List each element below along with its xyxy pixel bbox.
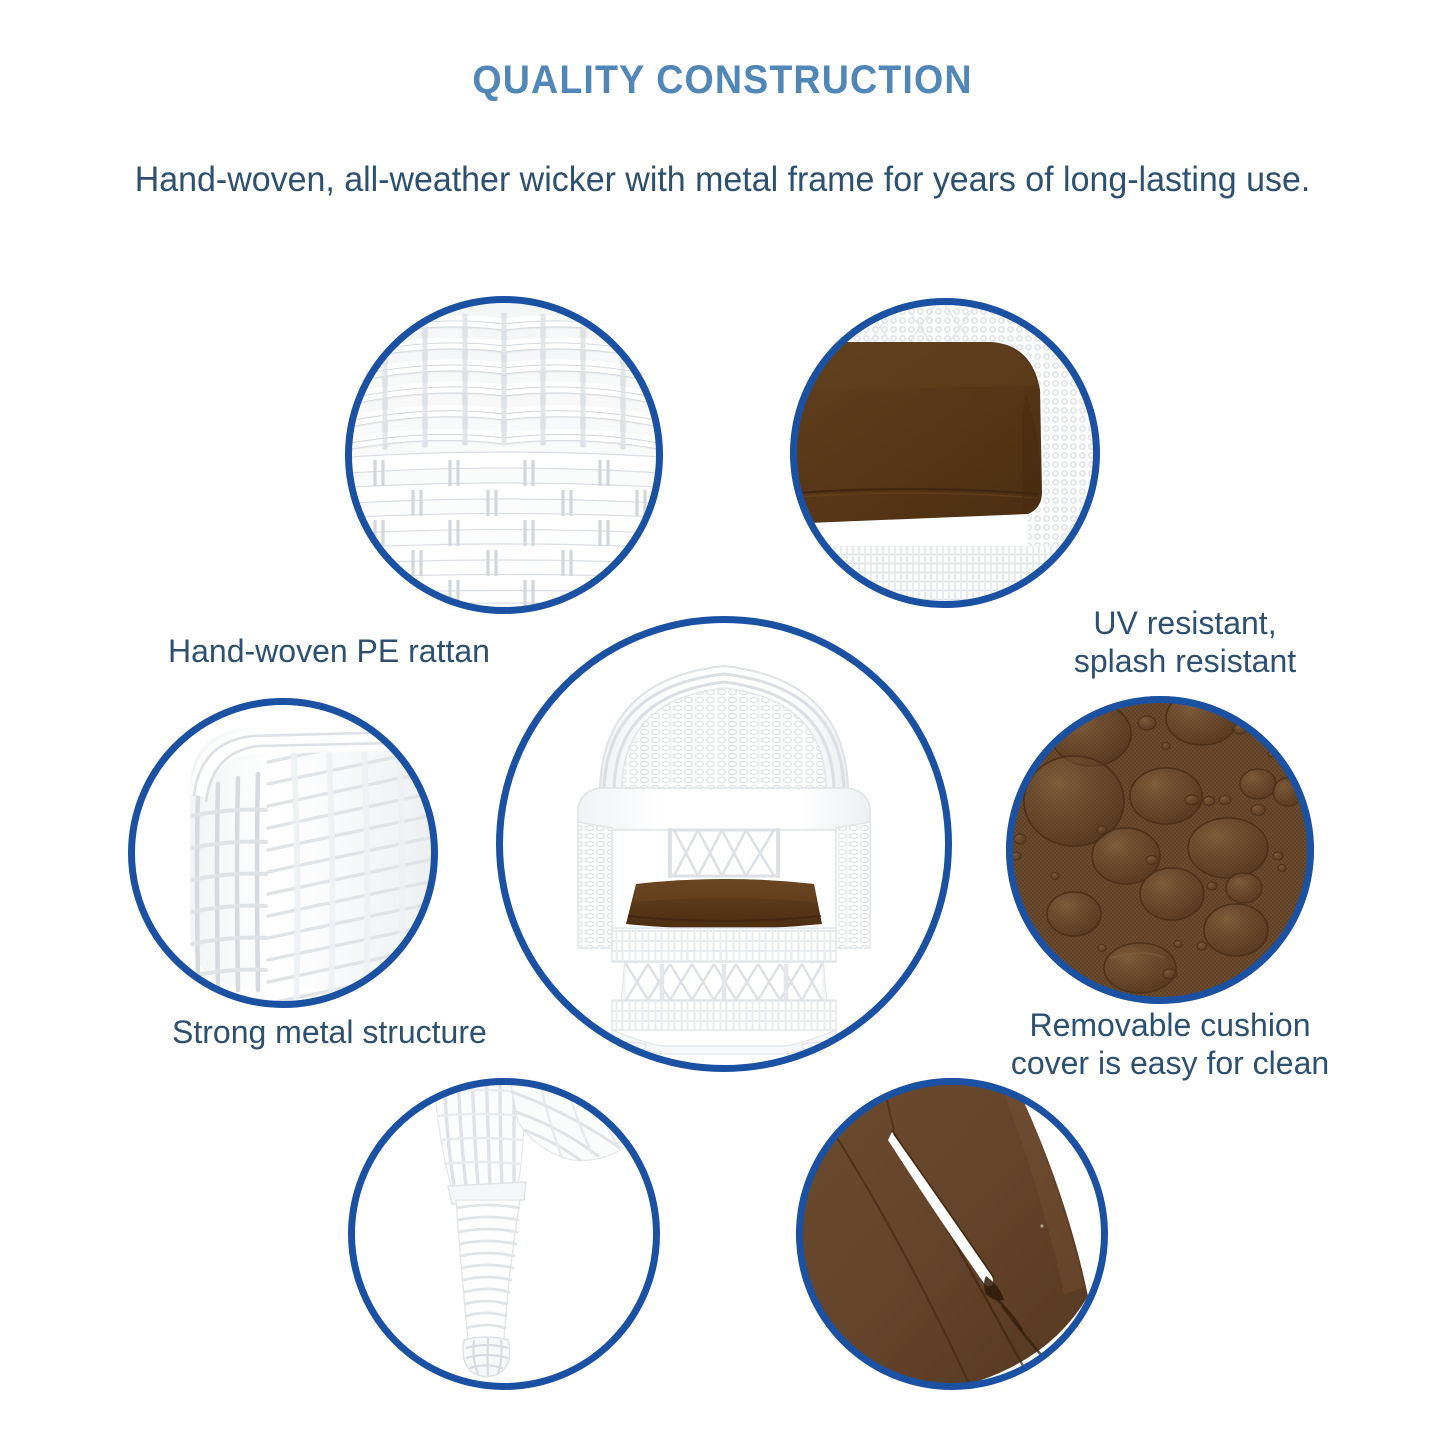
white-wicker-armchair-with-brown-cushion-icon bbox=[496, 616, 952, 1072]
caption-hand-woven-pe-rattan: Hand-woven PE rattan bbox=[168, 633, 588, 671]
caption-strong-metal-structure: Strong metal structure bbox=[172, 1014, 602, 1052]
brown-cushion-on-white-wicker-icon bbox=[790, 298, 1100, 608]
infographic-canvas: QUALITY CONSTRUCTION Hand-woven, all-wea… bbox=[0, 0, 1445, 1445]
white-wicker-armrest-corner-icon bbox=[128, 698, 438, 1008]
feature-bubble-chair-leg-detail bbox=[348, 1078, 660, 1390]
white-wicker-weave-closeup-icon bbox=[345, 296, 663, 614]
white-wicker-chair-leg-icon bbox=[348, 1078, 660, 1390]
page-title: QUALITY CONSTRUCTION bbox=[43, 58, 1401, 103]
feature-bubble-full-chair bbox=[496, 616, 952, 1072]
feature-bubble-uv-splash-resistant bbox=[790, 298, 1100, 608]
water-droplets-on-brown-fabric-icon bbox=[1006, 696, 1314, 1004]
feature-bubble-hand-woven-pe-rattan bbox=[345, 296, 663, 614]
brown-cushion-zipper-icon bbox=[796, 1078, 1108, 1390]
caption-removable-cushion-cover: Removable cushion cover is easy for clea… bbox=[1000, 1007, 1340, 1083]
caption-uv-splash-resistant: UV resistant, splash resistant bbox=[1035, 605, 1335, 681]
feature-bubble-cushion-zipper-detail bbox=[796, 1078, 1108, 1390]
feature-bubble-strong-metal-structure bbox=[128, 698, 438, 1008]
page-subtitle: Hand-woven, all-weather wicker with meta… bbox=[22, 160, 1424, 200]
feature-bubble-removable-cushion-cover bbox=[1006, 696, 1314, 1004]
